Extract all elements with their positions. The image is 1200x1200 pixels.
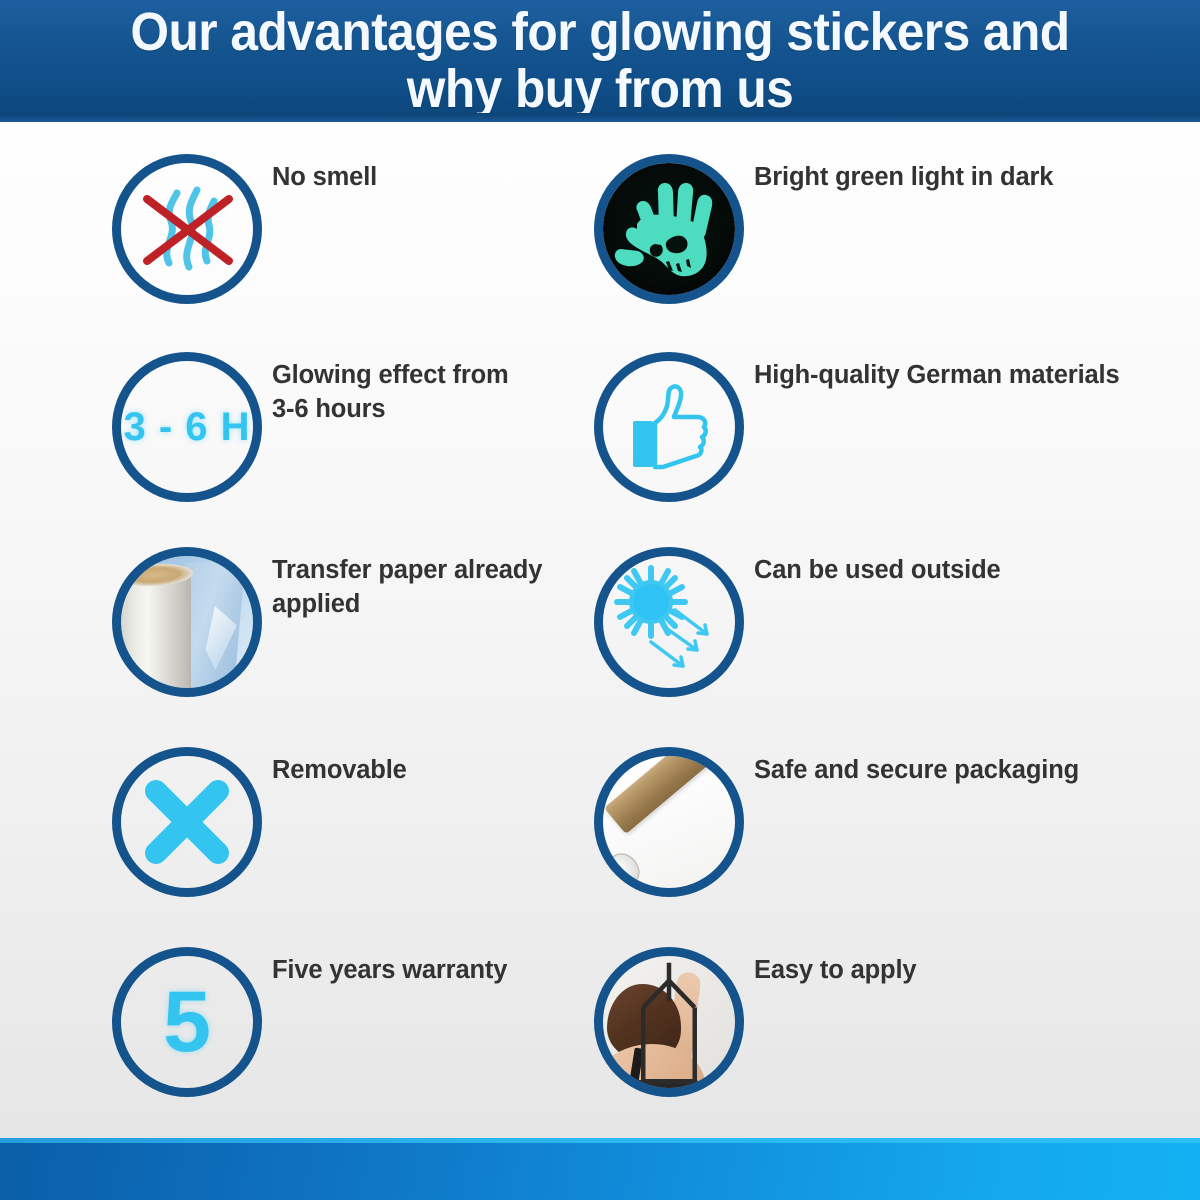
footer-banner (0, 1138, 1200, 1200)
feature-item-packaging: Safe and secure packaging (578, 747, 1138, 927)
feature-item-no-smell: No smell (96, 154, 656, 334)
feature-label: High-quality German materials (754, 358, 1134, 392)
header-banner: Our advantages for glowing stickers and … (0, 0, 1200, 122)
feature-item-warranty: 5 Five years warranty (96, 947, 656, 1127)
badge-ring (594, 547, 744, 697)
person-applying-decal-icon (594, 947, 744, 1097)
warranty-number: 5 (112, 947, 262, 1097)
badge-ring (112, 154, 262, 304)
feature-item-glow-duration: 3 - 6 H Glowing effect from 3-6 hours (96, 352, 656, 532)
feature-label: Easy to apply (754, 953, 1134, 987)
badge-ring (594, 947, 744, 1097)
transfer-paper-roll-icon (112, 547, 262, 697)
badge-ring (112, 747, 262, 897)
no-smell-icon (112, 154, 262, 304)
advantages-infographic: Our advantages for glowing stickers and … (0, 0, 1200, 1200)
feature-item-removable: Removable (96, 747, 656, 927)
feature-label: Safe and secure packaging (754, 753, 1134, 787)
removable-x-icon (112, 747, 262, 897)
feature-item-glow-in-dark: Bright green light in dark (578, 154, 1138, 334)
feature-label: Can be used outside (754, 553, 1134, 587)
feature-item-easy-apply: Easy to apply (578, 947, 1138, 1127)
feature-item-german-materials: High-quality German materials (578, 352, 1138, 532)
feature-item-outdoor-use: Can be used outside (578, 547, 1138, 727)
duration-3-6h-icon: 3 - 6 H (112, 352, 262, 502)
feature-label: Bright green light in dark (754, 160, 1134, 194)
badge-ring (594, 154, 744, 304)
feature-item-transfer-paper: Transfer paper already applied (96, 547, 656, 727)
glowing-handprint-icon (594, 154, 744, 304)
badge-ring (112, 547, 262, 697)
thumbs-up-icon (594, 352, 744, 502)
sun-outside-icon (594, 547, 744, 697)
five-years-icon: 5 (112, 947, 262, 1097)
mailing-tube-icon (594, 747, 744, 897)
duration-text: 3 - 6 H (112, 352, 262, 502)
badge-ring (594, 352, 744, 502)
page-title: Our advantages for glowing stickers and … (48, 4, 1152, 118)
badge-ring (594, 747, 744, 897)
features-grid: No smell (0, 122, 1200, 1138)
